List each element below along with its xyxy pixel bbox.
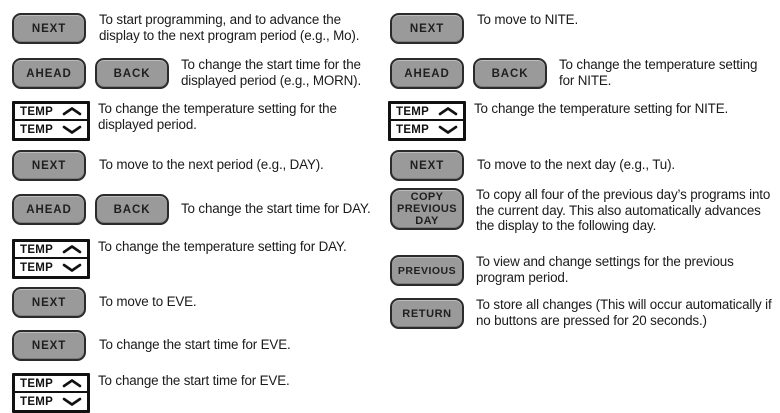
chevron-down-icon: [62, 262, 82, 273]
chevron-down-icon: [62, 124, 82, 135]
row-description: To change the temperature setting for th…: [98, 100, 384, 132]
row-description: To move to NITE.: [477, 11, 767, 28]
row-description: To change the start time for DAY.: [181, 200, 384, 217]
row-return-store-changes: RETURN To store all changes (This will o…: [390, 298, 775, 329]
ahead-button[interactable]: AHEAD: [390, 58, 464, 89]
button-cluster: NEXT: [390, 150, 464, 181]
temp-down-button[interactable]: TEMP: [15, 121, 87, 138]
row-description: To view and change settings for the prev…: [476, 253, 775, 285]
row-description: To change the start time for EVE.: [98, 372, 384, 389]
button-cluster: NEXT: [12, 287, 86, 318]
temp-updown-button[interactable]: TEMP TEMP: [388, 101, 466, 141]
chevron-up-icon: [62, 106, 82, 117]
row-temp-day: TEMP TEMP To change the: [12, 239, 384, 279]
row-description: To change the start time for EVE.: [99, 336, 384, 353]
back-button[interactable]: BACK: [95, 58, 169, 89]
row-description: To move to the next period (e.g., DAY).: [99, 156, 384, 173]
row-ahead-back-displayed-period: AHEAD BACK To change the start time for …: [12, 58, 384, 89]
button-cluster: PREVIOUS: [390, 255, 464, 286]
row-next-day-period: NEXT To move to the next period (e.g., D…: [12, 150, 384, 181]
temp-up-button[interactable]: TEMP: [15, 104, 87, 121]
chevron-up-icon: [62, 378, 82, 389]
temp-up-label: TEMP: [20, 106, 53, 118]
temp-down-label: TEMP: [20, 396, 53, 408]
next-button[interactable]: NEXT: [390, 150, 464, 181]
button-cluster: COPY PREVIOUS DAY: [390, 188, 464, 230]
row-copy-previous-day: COPY PREVIOUS DAY To copy all four of th…: [390, 188, 775, 234]
row-description: To change the temperature setting for NI…: [474, 100, 774, 117]
next-button[interactable]: NEXT: [12, 287, 86, 318]
copy-day-label: DAY: [415, 215, 438, 227]
ahead-button[interactable]: AHEAD: [12, 58, 86, 89]
row-temp-nite: TEMP TEMP To change the: [388, 101, 775, 141]
temp-down-label: TEMP: [396, 124, 429, 136]
temp-down-button[interactable]: TEMP: [391, 121, 463, 138]
button-reference-sheet: NEXT To start programming, and to advanc…: [0, 0, 780, 413]
chevron-up-icon: [438, 106, 458, 117]
back-button[interactable]: BACK: [473, 58, 547, 89]
copy-previous-day-button[interactable]: COPY PREVIOUS DAY: [390, 188, 464, 230]
temp-updown-button[interactable]: TEMP TEMP: [12, 239, 90, 279]
button-cluster: NEXT: [12, 13, 86, 44]
temp-up-label: TEMP: [396, 106, 429, 118]
row-description: To start programming, and to advance the…: [99, 11, 379, 43]
row-next-eve-start-time: NEXT To change the start time for EVE.: [12, 330, 384, 361]
ahead-button[interactable]: AHEAD: [12, 194, 86, 225]
button-cluster: AHEAD BACK: [390, 58, 547, 89]
button-cluster: NEXT: [12, 330, 86, 361]
button-cluster: AHEAD BACK: [12, 58, 169, 89]
button-cluster: NEXT: [12, 150, 86, 181]
back-button[interactable]: BACK: [95, 194, 169, 225]
row-next-start-programming: NEXT To start programming, and to advanc…: [12, 13, 384, 44]
next-button[interactable]: NEXT: [12, 13, 86, 44]
next-button[interactable]: NEXT: [12, 150, 86, 181]
next-button[interactable]: NEXT: [12, 330, 86, 361]
temp-down-button[interactable]: TEMP: [15, 393, 87, 410]
chevron-down-icon: [438, 124, 458, 135]
temp-updown-button[interactable]: TEMP TEMP: [12, 101, 90, 141]
left-column: NEXT To start programming, and to advanc…: [0, 0, 390, 413]
temp-up-button[interactable]: TEMP: [391, 104, 463, 121]
row-temp-eve: TEMP TEMP To change the: [12, 373, 384, 413]
row-description: To copy all four of the previous day’s p…: [476, 186, 775, 234]
row-next-eve: NEXT To move to EVE.: [12, 287, 384, 318]
copy-label: COPY: [411, 191, 444, 203]
row-next-nite: NEXT To move to NITE.: [390, 13, 775, 44]
copy-previous-label: PREVIOUS: [397, 203, 457, 215]
previous-button[interactable]: PREVIOUS: [390, 255, 464, 286]
row-previous-program-period: PREVIOUS To view and change settings for…: [390, 255, 775, 286]
temp-up-button[interactable]: TEMP: [15, 242, 87, 259]
row-temp-displayed-period: TEMP TEMP To change the: [12, 101, 384, 141]
row-description: To change the temperature setting for NI…: [559, 56, 774, 88]
row-description: To change the start time for the display…: [181, 56, 384, 88]
button-cluster: RETURN: [390, 298, 464, 329]
row-ahead-back-nite: AHEAD BACK To change the temperature set…: [390, 58, 775, 89]
button-cluster: NEXT: [390, 13, 464, 44]
next-button[interactable]: NEXT: [390, 13, 464, 44]
temp-up-label: TEMP: [20, 378, 53, 390]
temp-down-label: TEMP: [20, 262, 53, 274]
temp-updown-button[interactable]: TEMP TEMP: [12, 373, 90, 413]
chevron-down-icon: [62, 396, 82, 407]
row-next-next-day: NEXT To move to the next day (e.g., Tu).: [390, 150, 775, 181]
row-description: To store all changes (This will occur au…: [476, 296, 775, 328]
button-cluster: AHEAD BACK: [12, 194, 169, 225]
row-description: To move to the next day (e.g., Tu).: [477, 156, 767, 173]
chevron-up-icon: [62, 244, 82, 255]
temp-up-label: TEMP: [20, 244, 53, 256]
row-ahead-back-day: AHEAD BACK To change the start time for …: [12, 194, 384, 225]
row-description: To change the temperature setting for DA…: [98, 238, 384, 255]
return-button[interactable]: RETURN: [390, 298, 464, 329]
temp-down-label: TEMP: [20, 124, 53, 136]
right-column: NEXT To move to NITE. AHEAD BACK To chan…: [385, 0, 780, 413]
row-description: To move to EVE.: [99, 293, 384, 310]
temp-down-button[interactable]: TEMP: [15, 259, 87, 276]
temp-up-button[interactable]: TEMP: [15, 376, 87, 393]
